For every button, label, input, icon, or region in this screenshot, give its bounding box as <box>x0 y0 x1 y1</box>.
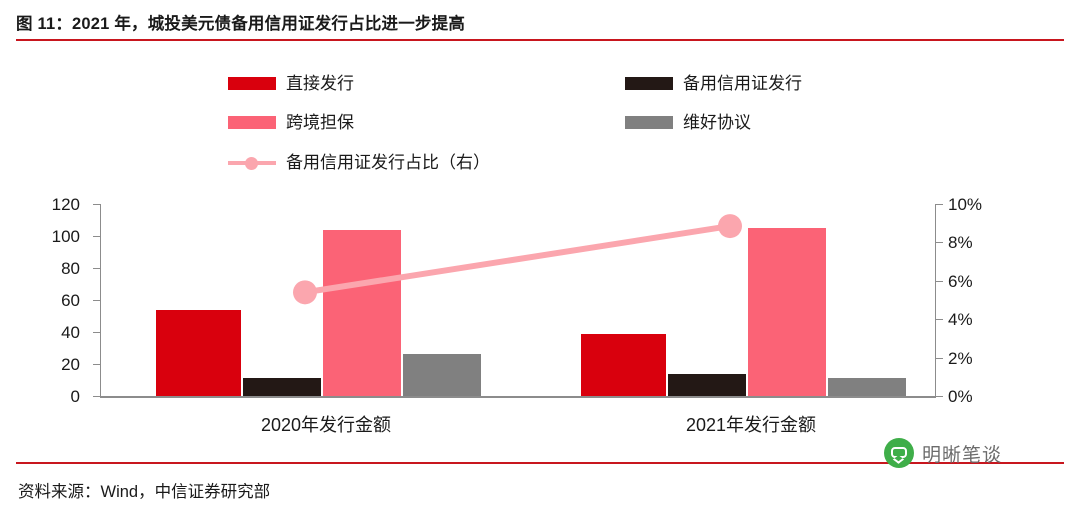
bar-keepwell-2021[interactable] <box>828 378 906 396</box>
y-tick-mark-left-60 <box>93 300 101 301</box>
bar-crossborder-2020[interactable] <box>323 230 401 396</box>
y-tick-label-right-6: 6% <box>948 273 1018 290</box>
x-axis-label-2021: 2021年发行金额 <box>571 411 931 437</box>
y-tick-mark-left-20 <box>93 364 101 365</box>
x-axis-line <box>100 396 936 398</box>
bar-group-2020 <box>136 204 516 396</box>
y-tick-label-right-2: 2% <box>948 350 1018 367</box>
y-tick-label-left-40: 40 <box>20 324 80 341</box>
y-tick-mark-left-0 <box>93 396 101 397</box>
bar-crossborder-2021[interactable] <box>748 228 826 396</box>
watermark-text: 明晰笔谈 <box>922 440 1002 467</box>
y-tick-label-left-0: 0 <box>20 388 80 405</box>
y-tick-label-left-100: 100 <box>20 228 80 245</box>
y-tick-label-right-4: 4% <box>948 311 1018 328</box>
y-tick-mark-left-100 <box>93 236 101 237</box>
watermark: 明晰笔谈 <box>884 433 1069 473</box>
y-tick-label-right-10: 10% <box>948 196 1018 213</box>
wechat-green-icon <box>884 438 914 468</box>
y-tick-mark-left-40 <box>93 332 101 333</box>
source-note: 资料来源：Wind，中信证券研究部 <box>18 478 270 502</box>
y-tick-label-left-20: 20 <box>20 356 80 373</box>
y-tick-mark-left-80 <box>93 268 101 269</box>
bar-sblc-2021[interactable] <box>668 374 746 396</box>
y-tick-label-left-80: 80 <box>20 260 80 277</box>
bar-direct-2021[interactable] <box>581 334 666 396</box>
y-tick-mark-left-120 <box>93 204 101 205</box>
bar-keepwell-2020[interactable] <box>403 354 481 396</box>
y-tick-label-right-8: 8% <box>948 234 1018 251</box>
y-tick-label-left-60: 60 <box>20 292 80 309</box>
y-tick-label-left-120: 120 <box>20 196 80 213</box>
x-axis-label-2020: 2020年发行金额 <box>146 411 506 437</box>
y-tick-mark-right-0 <box>935 396 943 397</box>
bar-direct-2020[interactable] <box>156 310 241 396</box>
bar-group-2021 <box>561 204 941 396</box>
bar-sblc-2020[interactable] <box>243 378 321 396</box>
y-tick-label-right-0: 0% <box>948 388 1018 405</box>
